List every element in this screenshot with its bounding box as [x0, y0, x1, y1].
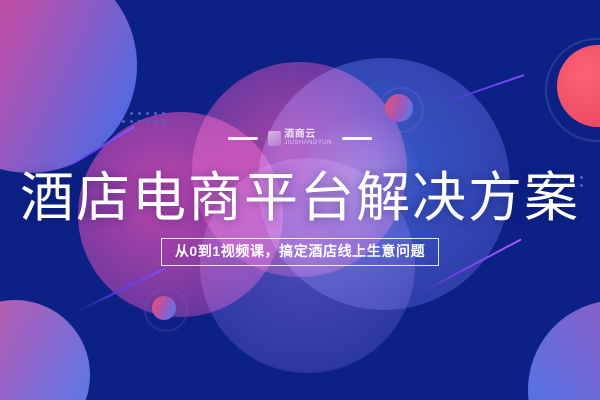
gradient-circle-top-left	[0, 0, 137, 173]
brand-logo: 酒商云 JIUSHANGYUN	[268, 130, 331, 146]
dot-grid-left	[122, 112, 165, 123]
logo-lockup: 酒商云 JIUSHANGYUN	[0, 130, 600, 146]
gradient-circle-bottom-right	[528, 300, 600, 400]
ring-right-edge	[545, 38, 600, 142]
gradient-circle-bottom-left	[0, 300, 90, 400]
red-circle-right-edge	[557, 45, 600, 127]
page-title: 酒店电商平台解决方案	[0, 170, 600, 227]
accent-dot-lower	[152, 296, 176, 320]
logo-dash-right	[342, 137, 372, 140]
accent-dot-upper	[385, 94, 413, 122]
accent-dot-ring-lower	[144, 288, 188, 332]
logo-dash-left	[228, 137, 258, 140]
logo-badge-icon	[268, 131, 281, 146]
subtitle-container: 从0到1视频课，搞定酒店线上生意问题	[0, 238, 600, 266]
diagonal-line-left-lower	[78, 267, 167, 312]
logo-subtext: JIUSHANGYUN	[284, 140, 331, 146]
logo-text: 酒商云	[284, 130, 331, 140]
promo-banner: 酒商云 JIUSHANGYUN 酒店电商平台解决方案 从0到1视频课，搞定酒店线…	[0, 0, 600, 400]
diagonal-line-right-upper	[437, 74, 525, 106]
subtitle-text: 从0到1视频课，搞定酒店线上生意问题	[161, 238, 439, 266]
accent-dot-ring-upper	[378, 87, 424, 133]
